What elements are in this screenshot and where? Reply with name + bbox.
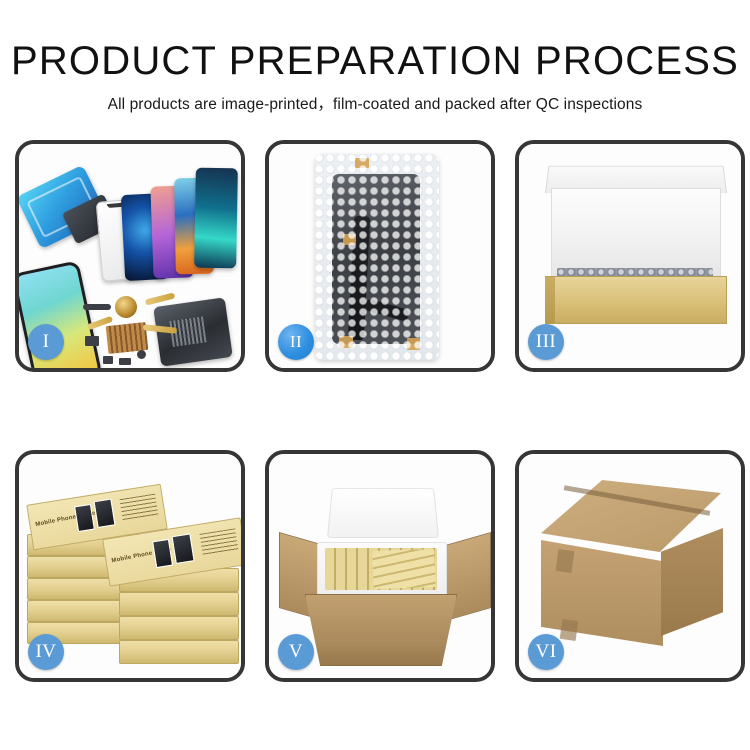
step-badge-3: III — [528, 324, 564, 360]
carton-tape-lower — [560, 619, 579, 641]
step-panel-4: Mobile Phone Spare Parts Mobile Phone Sp… — [15, 450, 245, 682]
stacked-box-r2 — [119, 592, 239, 616]
step-badge-6: VI — [528, 634, 564, 670]
large-iphone — [15, 260, 103, 372]
step-panel-2: II — [265, 140, 495, 372]
tape-middle — [343, 234, 356, 245]
inner-retail-boxes-stacked — [372, 549, 435, 589]
tape-bottom-left — [339, 336, 353, 348]
screw-part-a — [103, 356, 113, 364]
box-screen-thumb-r1 — [152, 539, 173, 568]
box-screen-thumb-l2 — [94, 499, 116, 528]
box-screen-thumb-r2 — [172, 533, 195, 564]
box-spec-lines-left — [120, 494, 159, 521]
vibration-motor-part — [115, 296, 137, 318]
camera-part — [85, 336, 99, 346]
box-spec-lines-right — [199, 528, 238, 555]
step-panel-1: I — [15, 140, 245, 372]
step-panel-5: V — [265, 450, 495, 682]
process-steps-grid: I II — [15, 140, 735, 682]
kraft-box-body — [545, 276, 727, 324]
box-screen-thumb-l1 — [74, 504, 95, 532]
carton-tape-upper — [556, 549, 575, 573]
product-preparation-infographic: PRODUCT PREPARATION PROCESS All products… — [0, 0, 750, 750]
tape-bottom-right — [407, 338, 420, 350]
header: PRODUCT PREPARATION PROCESS All products… — [0, 38, 750, 114]
step-badge-1: I — [28, 324, 64, 360]
step-panel-3: III — [515, 140, 745, 372]
stacked-box-r4 — [119, 640, 239, 664]
bubble-wrap-bag — [315, 154, 439, 360]
teal-swirl-phone — [194, 168, 238, 269]
tape-top — [355, 158, 369, 168]
step-badge-2: II — [278, 324, 314, 360]
speaker-part — [83, 304, 111, 310]
step-badge-5: V — [278, 634, 314, 670]
screw-part-b — [119, 358, 131, 365]
stacked-box-r3 — [119, 616, 239, 640]
shipping-carton-open — [305, 594, 457, 666]
flex-cable-a — [145, 292, 176, 305]
step-panel-6: VI — [515, 450, 745, 682]
carton-side-face — [661, 528, 723, 636]
step-badge-4: IV — [28, 634, 64, 670]
page-subtitle: All products are image-printed，film-coat… — [0, 92, 750, 114]
foam-box-lid — [327, 488, 439, 538]
page-title: PRODUCT PREPARATION PROCESS — [0, 38, 750, 84]
button-part — [137, 350, 146, 359]
